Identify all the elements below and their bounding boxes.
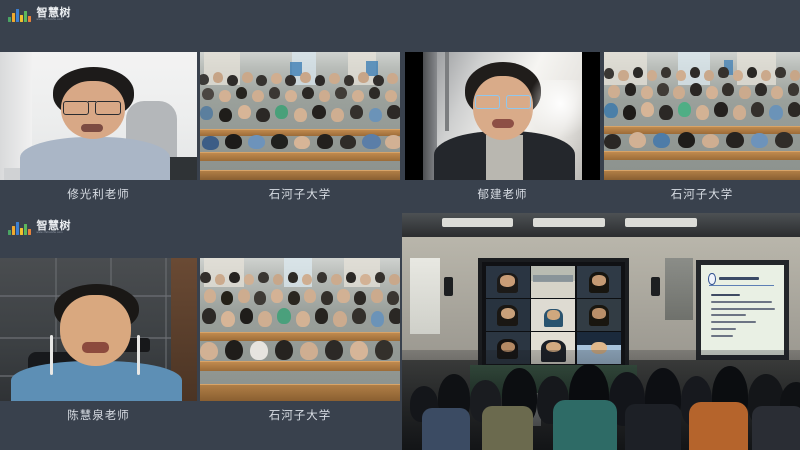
video-wall-cell bbox=[531, 299, 575, 331]
video-wall-grid bbox=[486, 266, 621, 364]
tile-classroom-3[interactable] bbox=[200, 258, 400, 401]
speaker-1-figure bbox=[39, 67, 149, 180]
caption-speaker-3: 陈慧泉老师 bbox=[0, 407, 197, 423]
caption-speaker-2: 郁建老师 bbox=[405, 186, 600, 202]
right-side-screen bbox=[665, 258, 693, 320]
speaker-2-video bbox=[405, 52, 600, 180]
quadrant-top-right[interactable]: 智慧树 www.zhihuishu.com bbox=[400, 0, 800, 213]
brand-name: 智慧树 bbox=[37, 7, 72, 18]
tile-speaker-2[interactable] bbox=[405, 52, 600, 180]
speaker-1-video bbox=[0, 52, 197, 180]
tile-classroom-1[interactable] bbox=[200, 52, 400, 180]
caption-speaker-1: 修光利老师 bbox=[0, 186, 197, 202]
video-wall-cell bbox=[531, 266, 575, 298]
brand-logo-bottom-left: 智慧树 www.zhihuishu.com bbox=[8, 219, 71, 235]
video-wall-cell bbox=[486, 266, 530, 298]
quadrant-bottom-left[interactable]: 智慧树 www.zhihuishu.com bbox=[0, 213, 402, 450]
wall-speaker-left bbox=[444, 277, 454, 296]
tile-speaker-1[interactable] bbox=[0, 52, 197, 180]
speaker-3-video bbox=[0, 258, 197, 401]
caption-classroom-3: 石河子大学 bbox=[200, 407, 400, 423]
university-emblem-icon bbox=[708, 273, 716, 285]
classroom-2-video bbox=[604, 52, 800, 180]
brand-name: 智慧树 bbox=[37, 220, 72, 231]
video-wall-cell bbox=[577, 299, 621, 331]
video-wall-cell bbox=[577, 266, 621, 298]
video-conference-stage: 智慧树 www.zhihuishu.com bbox=[0, 0, 800, 450]
brand-url: www.zhihuishu.com bbox=[37, 232, 72, 235]
quadrant-top-left[interactable]: 智慧树 www.zhihuishu.com bbox=[0, 0, 400, 213]
wall-speaker-right bbox=[651, 277, 661, 296]
tile-speaker-3[interactable] bbox=[0, 258, 197, 401]
classroom-1-video bbox=[200, 52, 400, 180]
speaker-3-figure bbox=[43, 284, 149, 401]
brand-url: www.zhihuishu.com bbox=[37, 19, 72, 22]
left-side-screen bbox=[410, 258, 440, 334]
audience-silhouettes bbox=[402, 350, 800, 450]
video-wall-cell bbox=[486, 299, 530, 331]
tile-classroom-2[interactable] bbox=[604, 52, 800, 180]
classroom-3-video bbox=[200, 258, 400, 401]
brand-logo-top-left: 智慧树 www.zhihuishu.com bbox=[8, 6, 71, 22]
caption-classroom-1: 石河子大学 bbox=[200, 186, 400, 202]
tile-lecture-hall[interactable] bbox=[402, 213, 800, 450]
lecture-hall-video bbox=[402, 213, 800, 450]
slide-title bbox=[719, 277, 759, 280]
projection-screen[interactable] bbox=[701, 265, 785, 355]
quadrant-bottom-right[interactable] bbox=[402, 213, 800, 450]
logo-bars-icon bbox=[8, 8, 31, 22]
logo-bars-icon bbox=[8, 221, 31, 235]
caption-classroom-2: 石河子大学 bbox=[604, 186, 800, 202]
